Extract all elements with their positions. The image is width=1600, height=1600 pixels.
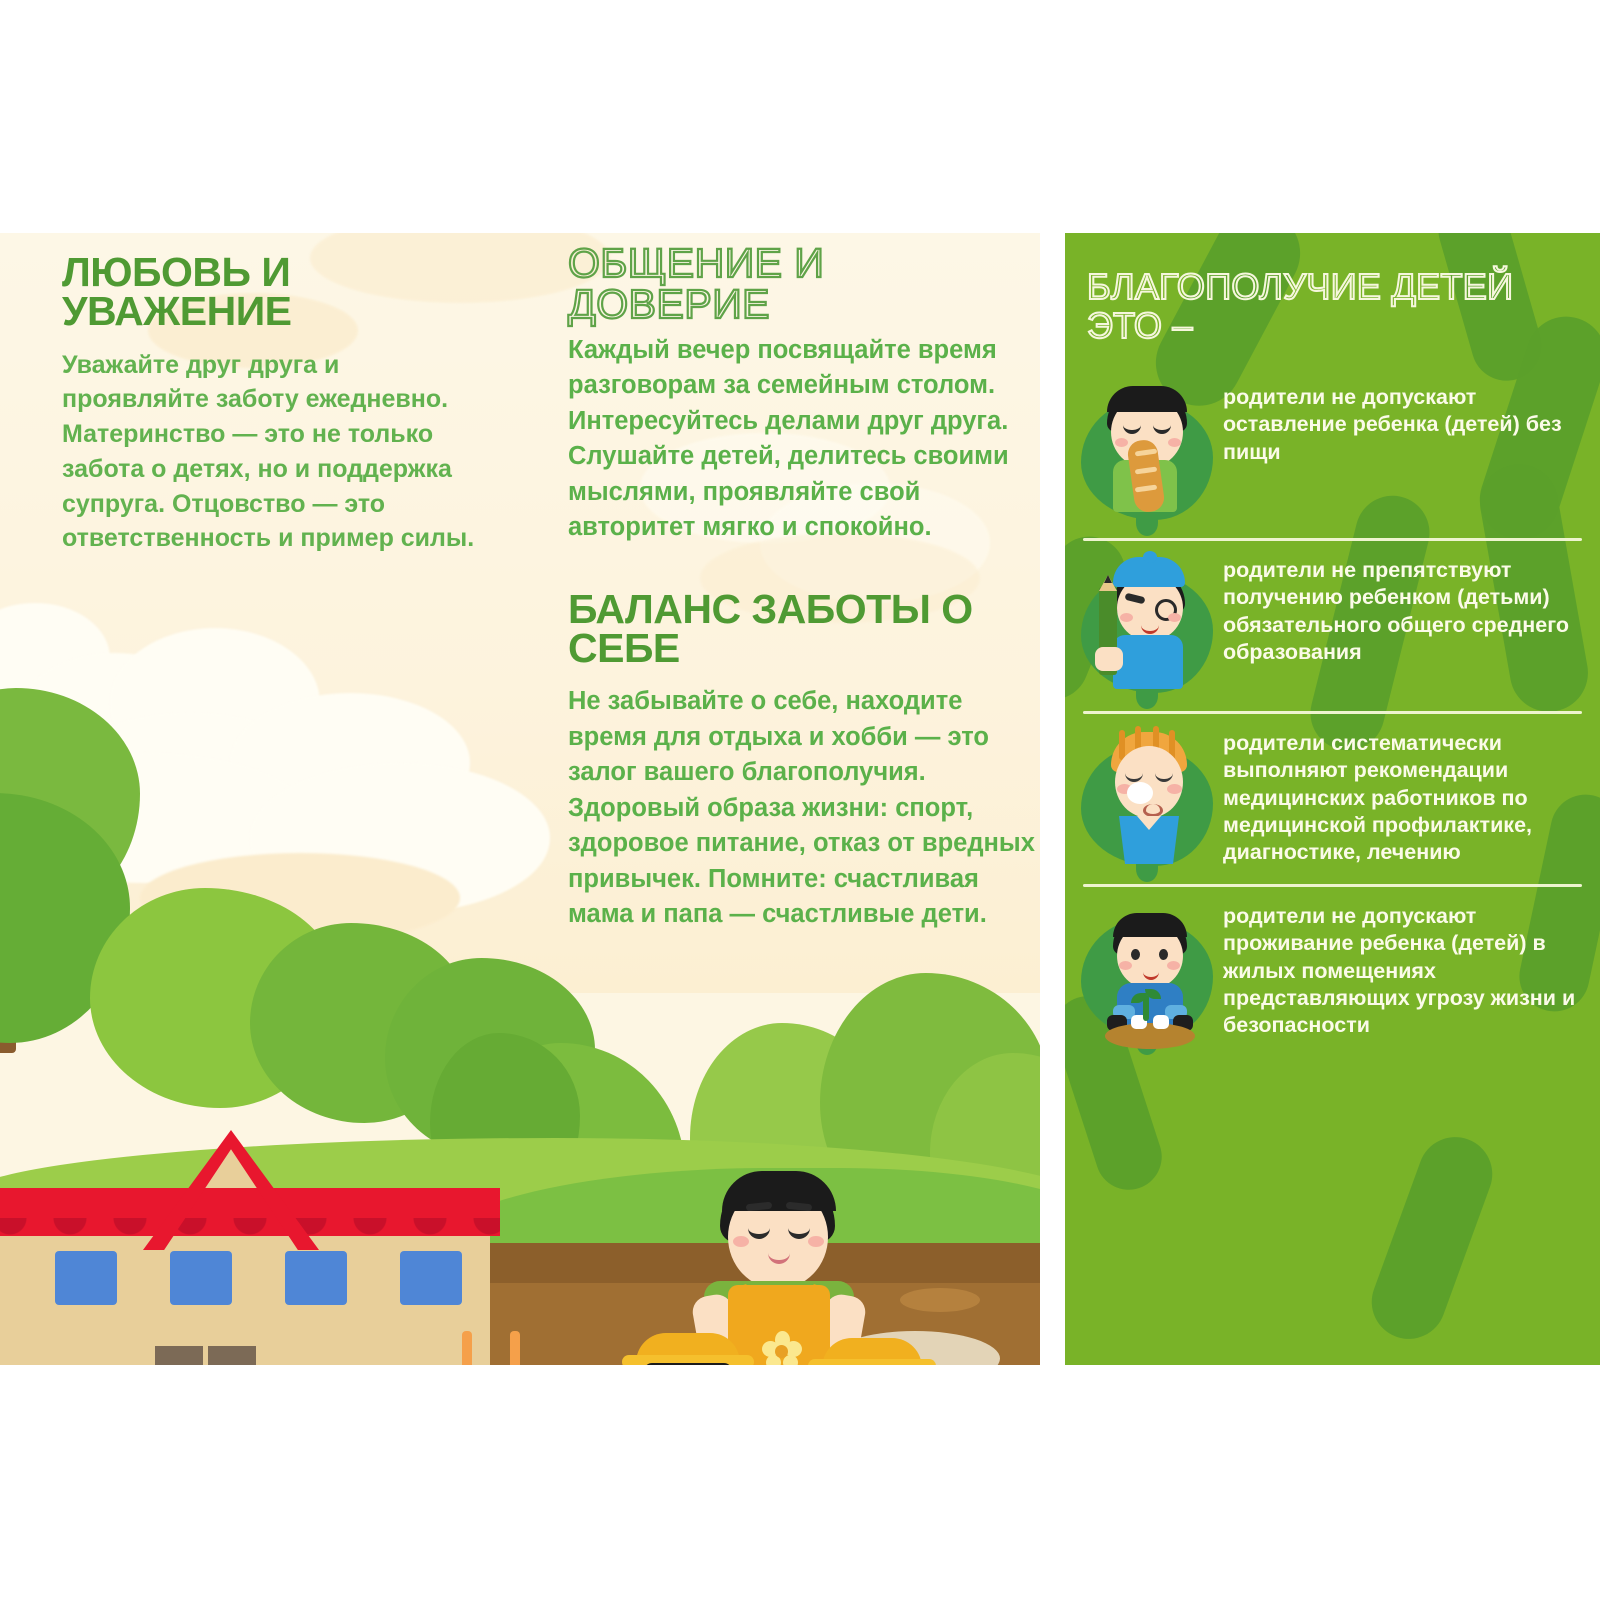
wellbeing-panel-title: БЛАГОПОЛУЧИЕ ДЕТЕЙ ЭТО – bbox=[1087, 268, 1587, 346]
door bbox=[155, 1346, 203, 1365]
flower-icon bbox=[762, 1331, 802, 1365]
window bbox=[170, 1251, 232, 1305]
text-column-communication: ОБЩЕНИЕ И ДОВЕРИЕ Каждый вечер посвящайт… bbox=[568, 243, 1038, 932]
wellbeing-item-text: родители не препятствуют получению ребен… bbox=[1223, 551, 1586, 666]
boy-with-pencil-icon bbox=[1073, 551, 1223, 701]
wellbeing-item: родители не допускают проживание ребенка… bbox=[1065, 887, 1600, 1057]
heading-love-respect: ЛЮБОВЬ И УВАЖЕНИЕ bbox=[62, 253, 492, 332]
wellbeing-item-text: родители не допускают проживание ребенка… bbox=[1223, 897, 1586, 1039]
boy-eating-bread-icon bbox=[1073, 378, 1223, 528]
body-communication-trust: Каждый вечер посвящайте время разговорам… bbox=[568, 333, 1038, 546]
body-love-respect: Уважайте друг друга и проявляйте заботу … bbox=[62, 348, 492, 557]
wellbeing-item: родители не препятствуют получению ребен… bbox=[1065, 541, 1600, 711]
heading-self-care-balance: БАЛАНС ЗАБОТЫ О СЕБЕ bbox=[568, 590, 1038, 669]
wellbeing-item: родители не допускают оставление ребенка… bbox=[1065, 368, 1600, 538]
wellbeing-item: родители систематически выполняют рекоме… bbox=[1065, 714, 1600, 884]
teacher-and-children-group bbox=[600, 1133, 930, 1365]
window bbox=[400, 1251, 462, 1305]
wellbeing-panel: БЛАГОПОЛУЧИЕ ДЕТЕЙ ЭТО – bbox=[1065, 233, 1600, 1365]
body-self-care-balance: Не забывайте о себе, находите время для … bbox=[568, 684, 1038, 932]
sick-child-with-tissue-icon bbox=[1073, 724, 1223, 874]
tissue-icon bbox=[1127, 782, 1153, 804]
poster-canvas: ЛЮБОВЬ И УВАЖЕНИЕ Уважайте друг друга и … bbox=[0, 233, 1600, 1365]
door bbox=[208, 1346, 256, 1365]
left-content-panel: ЛЮБОВЬ И УВАЖЕНИЕ Уважайте друг друга и … bbox=[0, 233, 1040, 1365]
window bbox=[285, 1251, 347, 1305]
wellbeing-item-text: родители систематически выполняют рекоме… bbox=[1223, 724, 1586, 866]
window bbox=[55, 1251, 117, 1305]
wellbeing-items-list: родители не допускают оставление ребенка… bbox=[1065, 368, 1600, 1057]
boy-planting-seedling-icon bbox=[1073, 897, 1223, 1047]
wellbeing-item-text: родители не допускают оставление ребенка… bbox=[1223, 378, 1586, 466]
text-column-love-respect: ЛЮБОВЬ И УВАЖЕНИЕ Уважайте друг друга и … bbox=[62, 253, 492, 556]
heading-communication-trust: ОБЩЕНИЕ И ДОВЕРИЕ bbox=[568, 243, 1038, 325]
